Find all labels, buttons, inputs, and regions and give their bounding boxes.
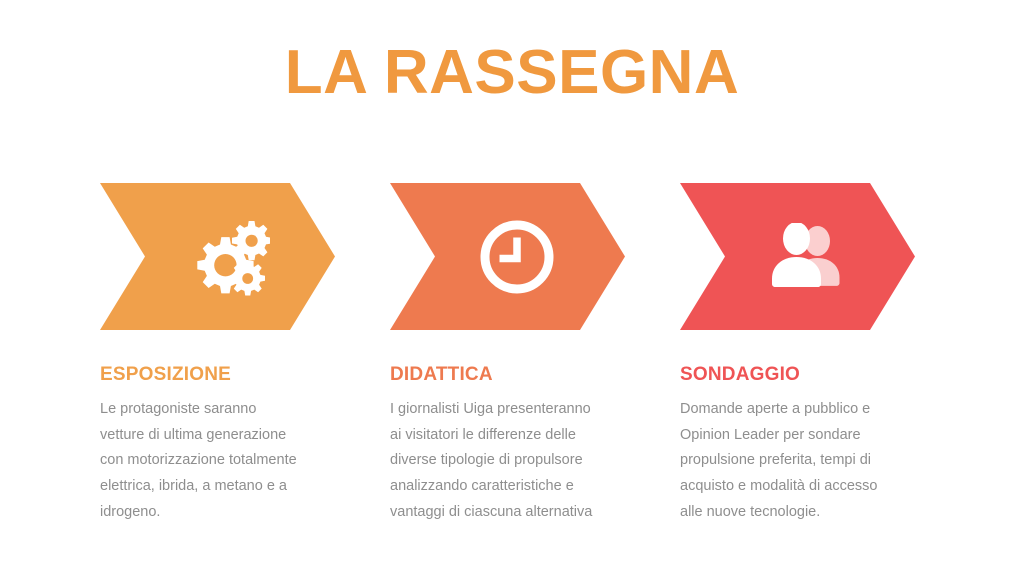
chevron-didattica[interactable] xyxy=(390,183,625,330)
column-didattica: DIDATTICA I giornalisti Uiga presenteran… xyxy=(390,183,625,526)
body-line: Domande aperte a pubblico e xyxy=(680,397,915,423)
column-heading-sondaggio: SONDAGGIO xyxy=(680,365,915,386)
body-line: vetture di ultima generazione xyxy=(100,423,335,449)
chevron-shape-icon xyxy=(100,183,335,330)
chevron-shape-icon xyxy=(680,183,915,330)
column-heading-esposizione: ESPOSIZIONE xyxy=(100,365,335,386)
column-esposizione: ESPOSIZIONE Le protagoniste saranno vett… xyxy=(100,183,335,526)
body-line: acquisto e modalità di accesso xyxy=(680,474,915,500)
body-line: diverse tipologie di propulsore xyxy=(390,448,625,474)
chevron-columns: ESPOSIZIONE Le protagoniste saranno vett… xyxy=(100,183,924,526)
page-title: LA RASSEGNA xyxy=(0,40,1024,105)
body-line: ai visitatori le differenze delle xyxy=(390,423,625,449)
body-line: analizzando caratteristiche e xyxy=(390,474,625,500)
body-line: alle nuove tecnologie. xyxy=(680,500,915,526)
chevron-esposizione[interactable] xyxy=(100,183,335,330)
chevron-sondaggio[interactable] xyxy=(680,183,915,330)
column-body-esposizione: Le protagoniste saranno vetture di ultim… xyxy=(100,397,335,526)
body-line: Opinion Leader per sondare xyxy=(680,423,915,449)
body-line: propulsione preferita, tempi di xyxy=(680,448,915,474)
body-line: vantaggi di ciascuna alternativa xyxy=(390,500,625,526)
body-line: Le protagoniste saranno xyxy=(100,397,335,423)
body-line: con motorizzazione totalmente xyxy=(100,448,335,474)
body-line: idrogeno. xyxy=(100,500,335,526)
column-body-sondaggio: Domande aperte a pubblico e Opinion Lead… xyxy=(680,397,915,526)
body-line: elettrica, ibrida, a metano e a xyxy=(100,474,335,500)
chevron-shape-icon xyxy=(390,183,625,330)
column-heading-didattica: DIDATTICA xyxy=(390,365,625,386)
slide: LA RASSEGNA xyxy=(0,0,1024,575)
column-body-didattica: I giornalisti Uiga presenteranno ai visi… xyxy=(390,397,625,526)
column-sondaggio: SONDAGGIO Domande aperte a pubblico e Op… xyxy=(680,183,915,526)
body-line: I giornalisti Uiga presenteranno xyxy=(390,397,625,423)
